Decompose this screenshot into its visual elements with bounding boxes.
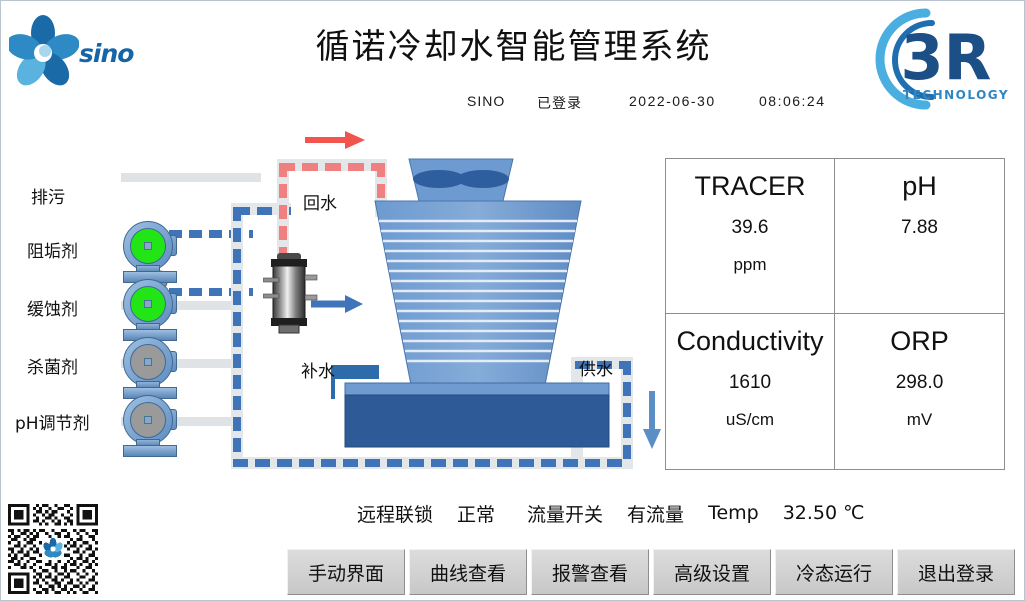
label-supply-water: 供水 — [579, 355, 613, 380]
pump-hub — [144, 358, 152, 366]
cooling-tower — [331, 157, 621, 457]
header: sino 循诺冷却水智能管理系统 SINO 已登录 2022-06-30 08:… — [1, 1, 1025, 121]
svg-text:TECHNOLOGY: TECHNOLOGY — [903, 88, 1009, 102]
return-line-left — [279, 163, 287, 257]
measure-unit: uS/cm — [726, 410, 774, 430]
button-cold-start-run[interactable]: 冷态运行 — [775, 549, 893, 595]
measure-name: pH — [902, 171, 937, 202]
panel-cell-orp[interactable]: ORP 298.0 mV — [835, 314, 1004, 469]
process-diagram: 排污 阻垢剂 缓蚀剂 杀菌剂 pH调节剂 — [1, 127, 661, 487]
measure-name: TRACER — [694, 171, 805, 202]
button-advanced-settings[interactable]: 高级设置 — [653, 549, 771, 595]
label-return-water: 回水 — [303, 189, 337, 214]
measure-name: ORP — [890, 326, 949, 357]
return-flow-arrow-icon — [303, 129, 367, 151]
3r-logo-icon: 3R TECHNOLOGY — [868, 5, 1018, 113]
loop-line-left — [233, 207, 241, 465]
measure-value: 298.0 — [896, 372, 944, 394]
pump-hub — [144, 416, 152, 424]
button-bar: 手动界面 曲线查看 报警查看 高级设置 冷态运行 退出登录 — [287, 549, 1015, 595]
loop-line-right — [623, 361, 631, 465]
user-name: SINO — [467, 93, 505, 109]
interlock-label: 远程联锁 — [357, 500, 433, 527]
temp-label: Temp — [708, 502, 759, 524]
measure-unit: ppm — [733, 255, 766, 275]
measure-value: 7.88 — [901, 217, 938, 239]
button-alarm-view[interactable]: 报警查看 — [531, 549, 649, 595]
pump-inhibitor[interactable] — [121, 279, 177, 333]
loop-line-bottom — [233, 459, 629, 467]
pipe-blowdown — [121, 173, 261, 182]
qr-code-icon — [7, 504, 99, 594]
scada-screen: sino 循诺冷却水智能管理系统 SINO 已登录 2022-06-30 08:… — [0, 0, 1025, 601]
measure-value: 1610 — [729, 372, 771, 394]
pump-hub — [144, 300, 152, 308]
pump-hub — [144, 242, 152, 250]
button-manual-interface[interactable]: 手动界面 — [287, 549, 405, 595]
measurement-panel: TRACER 39.6 ppm pH 7.88 Conductivity 161… — [665, 158, 1005, 470]
button-logout[interactable]: 退出登录 — [897, 549, 1015, 595]
login-status: 已登录 — [537, 93, 582, 113]
svg-text:3R: 3R — [901, 21, 992, 94]
measure-name: Conductivity — [676, 326, 823, 357]
temp-unit: ℃ — [843, 502, 864, 524]
button-trend-view[interactable]: 曲线查看 — [409, 549, 527, 595]
label-inhibitor: 缓蚀剂 — [27, 295, 78, 320]
pump-ph-adjust[interactable] — [121, 395, 177, 449]
system-time: 08:06:24 — [759, 93, 826, 109]
system-date: 2022-06-30 — [629, 93, 716, 109]
heat-exchanger-icon[interactable] — [263, 247, 313, 337]
pump-biocide[interactable] — [121, 337, 177, 391]
pump-base — [123, 445, 177, 457]
label-makeup-water: 补水 — [301, 357, 335, 382]
label-blowdown: 排污 — [31, 183, 65, 208]
pump-antiscalant[interactable] — [121, 221, 177, 275]
label-antiscalant: 阻垢剂 — [27, 237, 78, 262]
measure-unit: mV — [907, 410, 933, 430]
panel-cell-ph[interactable]: pH 7.88 — [835, 159, 1004, 314]
label-ph-adjust: pH调节剂 — [15, 409, 90, 434]
temp-value: 32.50 — [783, 502, 837, 524]
measure-value: 39.6 — [732, 217, 769, 239]
panel-cell-tracer[interactable]: TRACER 39.6 ppm — [666, 159, 835, 314]
label-biocide: 杀菌剂 — [27, 353, 78, 378]
panel-cell-conductivity[interactable]: Conductivity 1610 uS/cm — [666, 314, 835, 469]
supply-flow-arrow-icon — [641, 389, 663, 451]
3r-technology-logo: 3R TECHNOLOGY — [868, 5, 1018, 113]
flow-switch-value: 有流量 — [627, 500, 684, 527]
status-row: 远程联锁 正常 流量开关 有流量 Temp 32.50 ℃ — [357, 498, 1017, 528]
qr-code[interactable] — [7, 504, 99, 594]
flow-switch-label: 流量开关 — [527, 500, 603, 527]
interlock-value: 正常 — [457, 500, 495, 527]
